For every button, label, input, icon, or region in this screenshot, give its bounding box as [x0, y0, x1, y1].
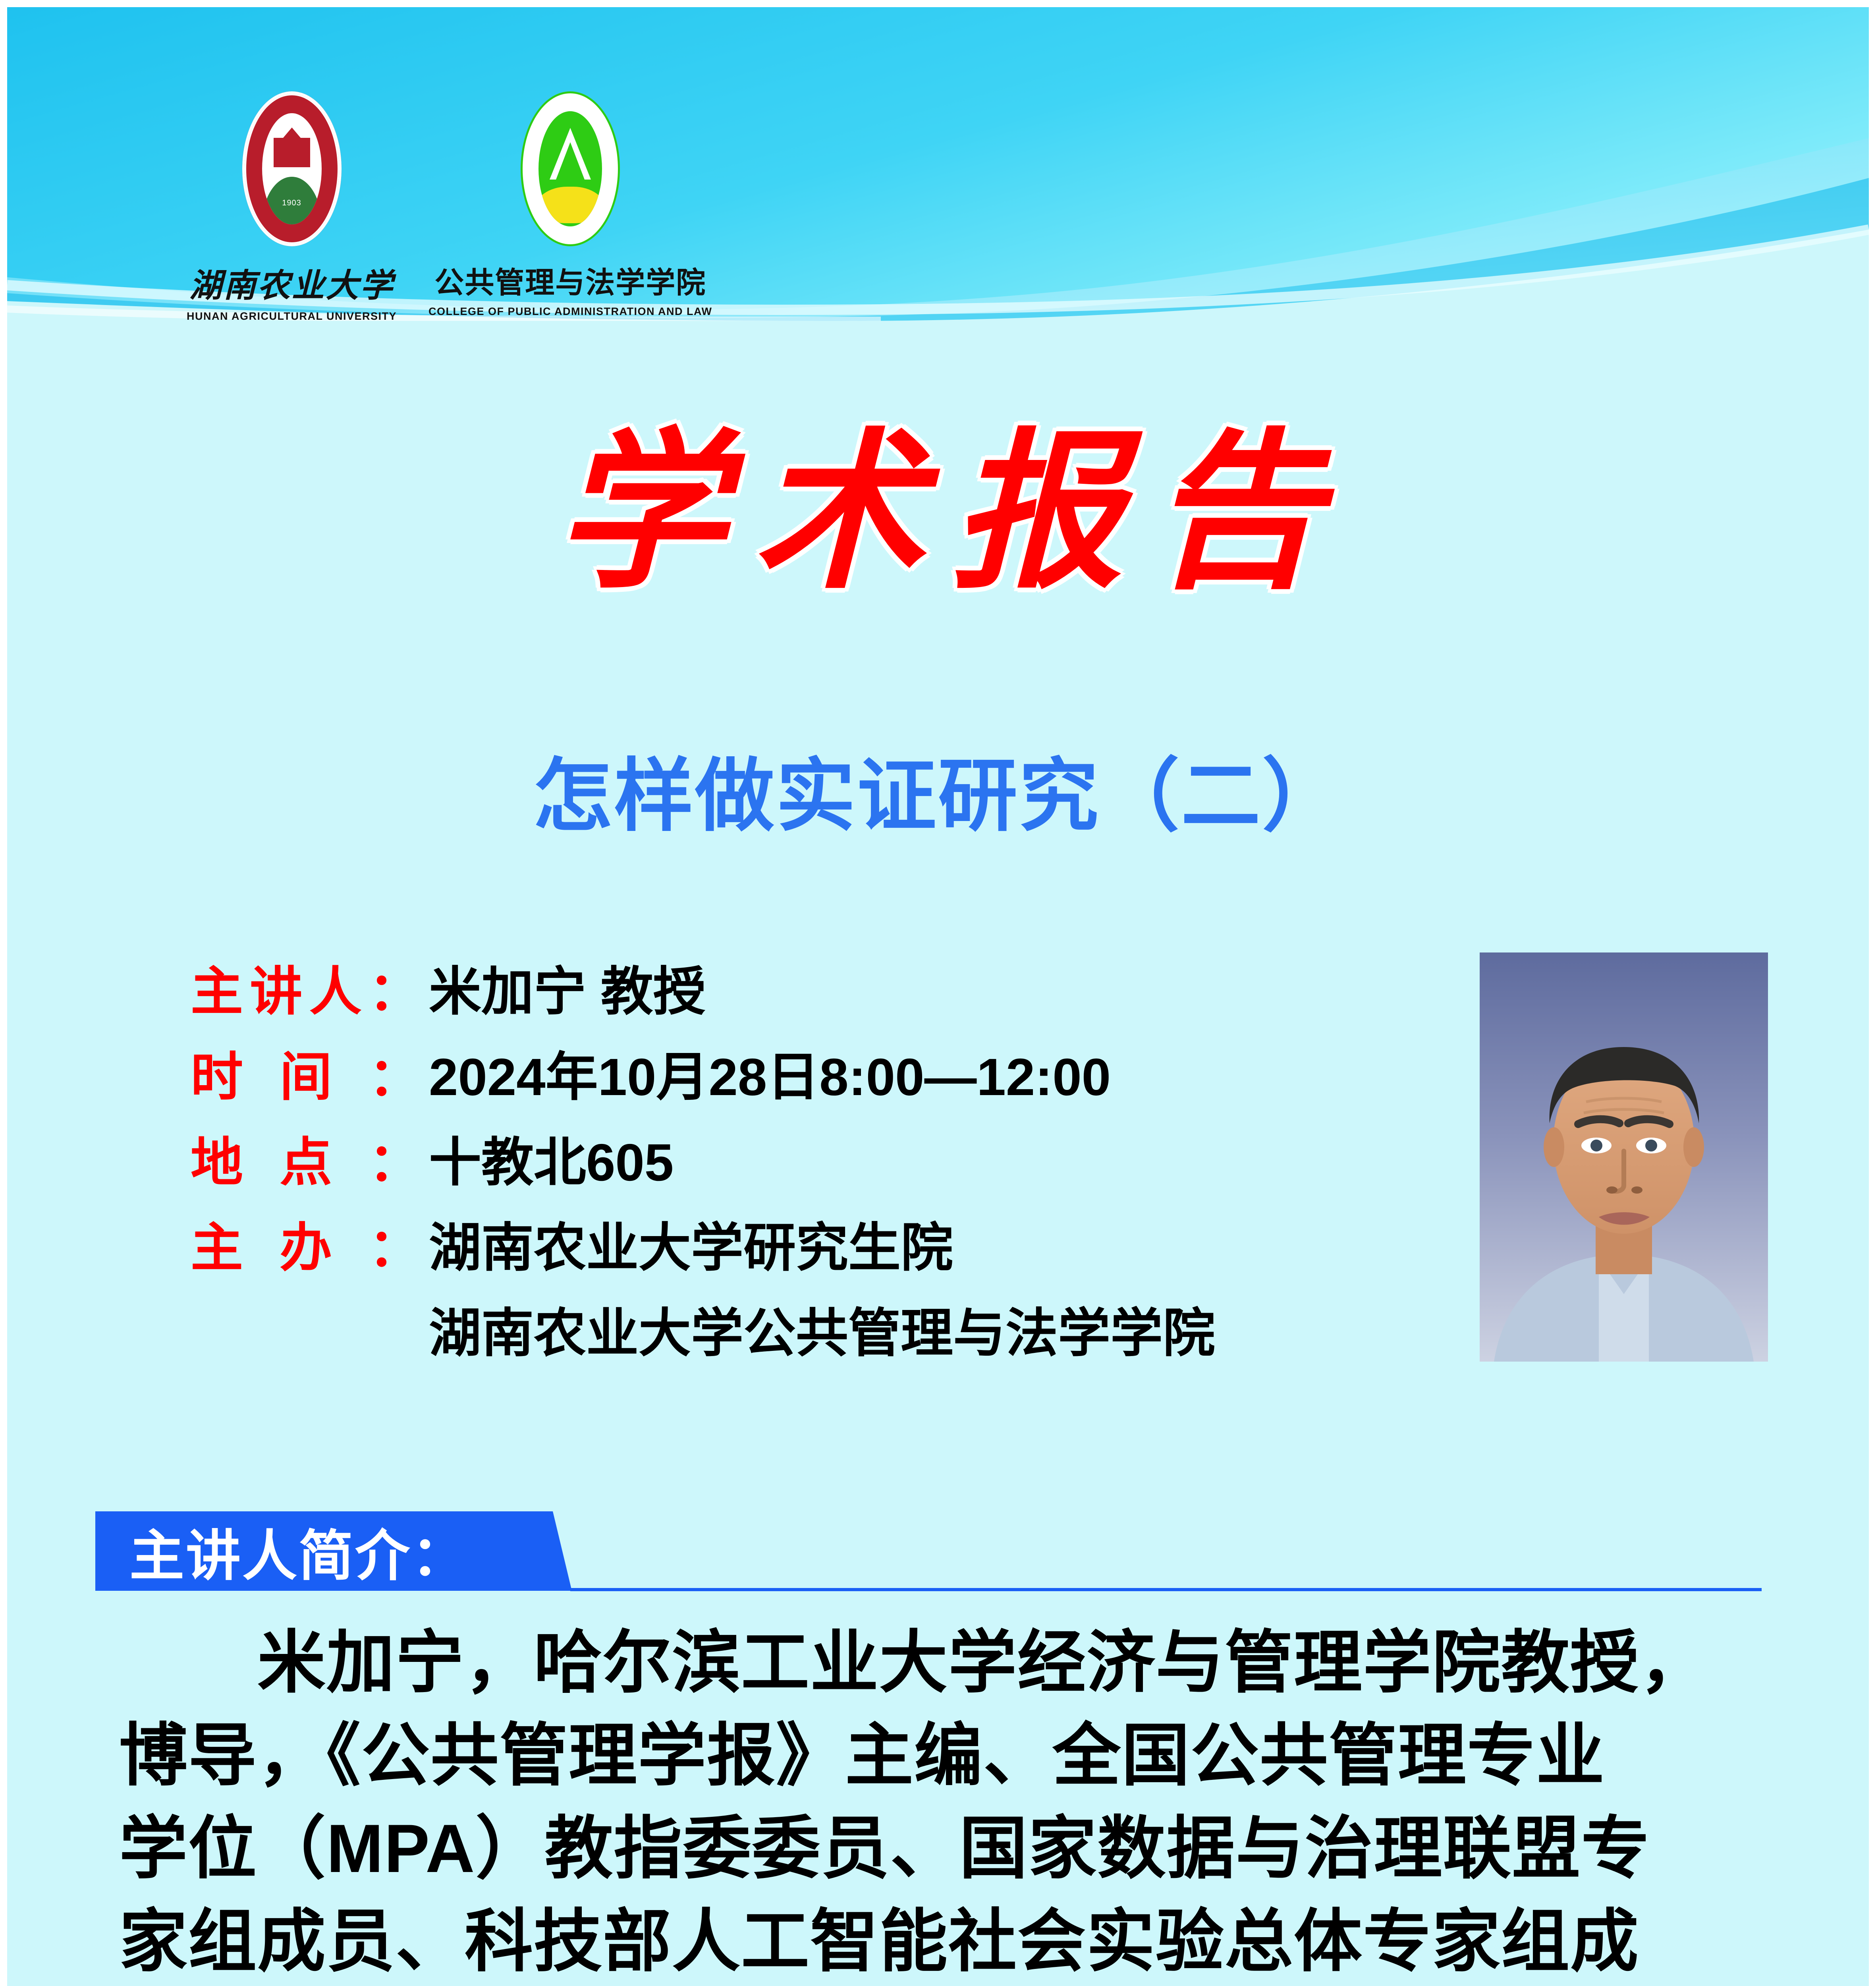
info-value-organizer-primary: 湖南农业大学研究生院 — [421, 1206, 953, 1281]
info-label-organizer: 主 办 ： — [191, 1206, 421, 1281]
label-char: 人 — [309, 949, 362, 1025]
college-seal-inner — [538, 111, 602, 226]
bio-header-rule — [570, 1588, 1762, 1591]
hunan-agricultural-university-seal-icon: 1903 — [242, 91, 342, 246]
event-info-block: 主 讲 人 ： 米加宁 教授 时 间 ： 2024年10月28日8:00—12:… — [191, 949, 1215, 1367]
info-row-speaker: 主 讲 人 ： 米加宁 教授 — [191, 949, 1215, 1025]
speaker-portrait-photo — [1480, 952, 1768, 1362]
seal-inner-medallion: 1903 — [262, 113, 322, 224]
university-logo-block: 1903 湖南农业大学 HUNAN AGRICULTURAL UNIVERSIT… — [187, 91, 397, 323]
info-value-location: 十教北605 — [421, 1120, 674, 1196]
seal-building-icon — [274, 138, 310, 167]
info-row-location: 地 点 ： 十教北605 — [191, 1120, 1215, 1196]
label-colon: ： — [369, 1120, 421, 1196]
label-colon: ： — [369, 1035, 421, 1111]
page-title: 学术报告 — [0, 429, 1876, 600]
bio-line: 米加宁，哈尔滨工业大学经济与管理学院教授， — [119, 1629, 1771, 1697]
info-value-speaker: 米加宁 教授 — [421, 949, 706, 1025]
label-char: 办 — [280, 1206, 332, 1281]
info-label-speaker: 主 讲 人 ： — [191, 949, 421, 1025]
college-of-public-administration-and-law-seal-icon — [521, 91, 620, 246]
label-colon: ： — [369, 1206, 421, 1281]
info-label-time: 时 间 ： — [191, 1035, 421, 1111]
college-name-en: COLLEGE OF PUBLIC ADMINISTRATION AND LAW — [428, 305, 712, 318]
college-seal-triangle-inner — [556, 142, 585, 180]
college-seal-field-shape — [538, 187, 602, 223]
info-row-time: 时 间 ： 2024年10月28日8:00—12:00 — [191, 1035, 1215, 1111]
college-logo-block: 公共管理与法学学院 COLLEGE OF PUBLIC ADMINISTRATI… — [428, 91, 712, 318]
label-char: 时 — [191, 1035, 243, 1111]
seal-founded-year: 1903 — [282, 199, 301, 208]
info-row-organizer: 主 办 ： 湖南农业大学研究生院 — [191, 1206, 1215, 1281]
page-subtitle: 怎样做实证研究（二） — [0, 751, 1876, 842]
bio-paragraph: 米加宁，哈尔滨工业大学经济与管理学院教授， 博导，《公共管理学报》主编、全国公共… — [119, 1629, 1771, 1986]
bio-line: 学位（MPA）教指委委员、国家数据与治理联盟专 — [119, 1814, 1771, 1883]
info-label-location: 地 点 ： — [191, 1120, 421, 1196]
bio-line: 家组成员、科技部人工智能社会实验总体专家组成 — [119, 1907, 1771, 1976]
bio-header-banner: 主讲人简介： — [95, 1511, 572, 1591]
label-char: 主 — [191, 1206, 243, 1281]
label-char: 地 — [191, 1120, 243, 1196]
university-name-en: HUNAN AGRICULTURAL UNIVERSITY — [187, 310, 397, 323]
label-char: 主 — [191, 949, 243, 1025]
portrait-illustration — [1480, 952, 1768, 1362]
university-name-cn: 湖南农业大学 — [189, 259, 394, 306]
info-value-organizer-secondary: 湖南农业大学公共管理与法学学院 — [429, 1291, 1215, 1367]
bio-header-area: 主讲人简介： — [95, 1511, 1787, 1603]
bio-line: 博导，《公共管理学报》主编、全国公共管理专业 — [119, 1721, 1771, 1790]
logo-row: 1903 湖南农业大学 HUNAN AGRICULTURAL UNIVERSIT… — [187, 91, 712, 323]
label-char: 点 — [280, 1120, 332, 1196]
label-colon: ： — [369, 949, 421, 1025]
college-name-cn: 公共管理与法学学院 — [434, 259, 706, 301]
label-char: 讲 — [250, 949, 302, 1025]
bio-header-label: 主讲人简介： — [129, 1511, 468, 1591]
label-char: 间 — [280, 1035, 332, 1111]
poster-root: 1903 湖南农业大学 HUNAN AGRICULTURAL UNIVERSIT… — [0, 0, 1876, 1986]
info-value-time: 2024年10月28日8:00—12:00 — [421, 1035, 1111, 1111]
